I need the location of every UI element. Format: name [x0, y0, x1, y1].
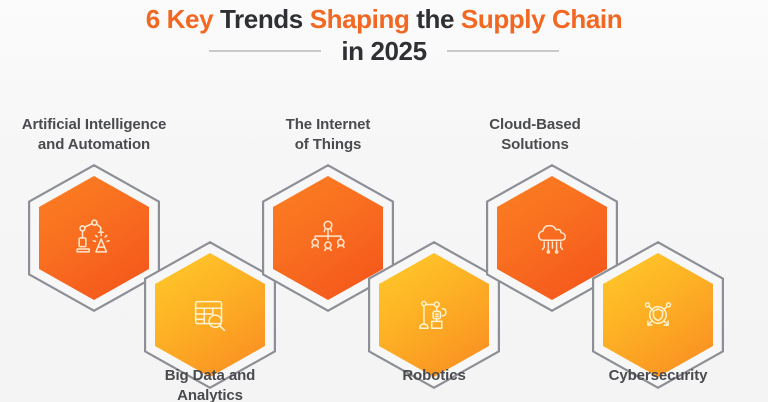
data-table-search-icon — [187, 292, 233, 338]
network-nodes-icon — [306, 216, 350, 260]
title-line-2: in 2025 — [341, 36, 426, 66]
hex-label-line-1: Cybersecurity — [543, 366, 768, 386]
title-seg-2: Trends — [220, 4, 310, 34]
shield-network-icon — [636, 293, 680, 337]
robot-arm-icon — [412, 293, 456, 337]
hex-label-cloud-based-solutions: Cloud-Based Solutions — [420, 115, 650, 155]
hex-label-line-2: Analytics — [95, 386, 325, 402]
hex-label-line-1: The Internet — [213, 115, 443, 135]
infographic-canvas: 6 Key Trends Shaping the Supply Chain in… — [0, 0, 768, 402]
cloud-circuit-icon — [530, 216, 574, 260]
hex-label-line-1: Big Data and — [95, 366, 325, 386]
hex-label-line-2: and Automation — [0, 135, 209, 155]
hex-label-line-1: Artificial Intelligence — [0, 115, 209, 135]
title-rule-right — [447, 50, 559, 52]
page-title: 6 Key Trends Shaping the Supply Chain in… — [0, 4, 768, 66]
title-seg-1: 6 Key — [146, 4, 220, 34]
hex-label-artificial-intelligence-and-automation: Artificial Intelligence and Automation — [0, 115, 209, 155]
hex-node-artificial-intelligence-and-automation[interactable] — [28, 164, 160, 312]
title-seg-3: Shaping — [310, 4, 417, 34]
hex-label-cybersecurity: Cybersecurity — [543, 366, 768, 386]
hex-label-the-internet-of-things: The Internet of Things — [213, 115, 443, 155]
hex-label-line-1: Cloud-Based — [420, 115, 650, 135]
hex-label-line-2: of Things — [213, 135, 443, 155]
hex-label-big-data-and-analytics: Big Data and Analytics — [95, 366, 325, 402]
robotic-arm-icon — [71, 215, 117, 261]
hex-label-robotics: Robotics — [319, 366, 549, 386]
title-line-1: 6 Key Trends Shaping the Supply Chain — [0, 4, 768, 34]
title-seg-4: the — [416, 4, 461, 34]
hex-label-line-2: Solutions — [420, 135, 650, 155]
title-rule-left — [209, 50, 321, 52]
hex-label-line-1: Robotics — [319, 366, 549, 386]
title-seg-5: Supply Chain — [461, 4, 622, 34]
